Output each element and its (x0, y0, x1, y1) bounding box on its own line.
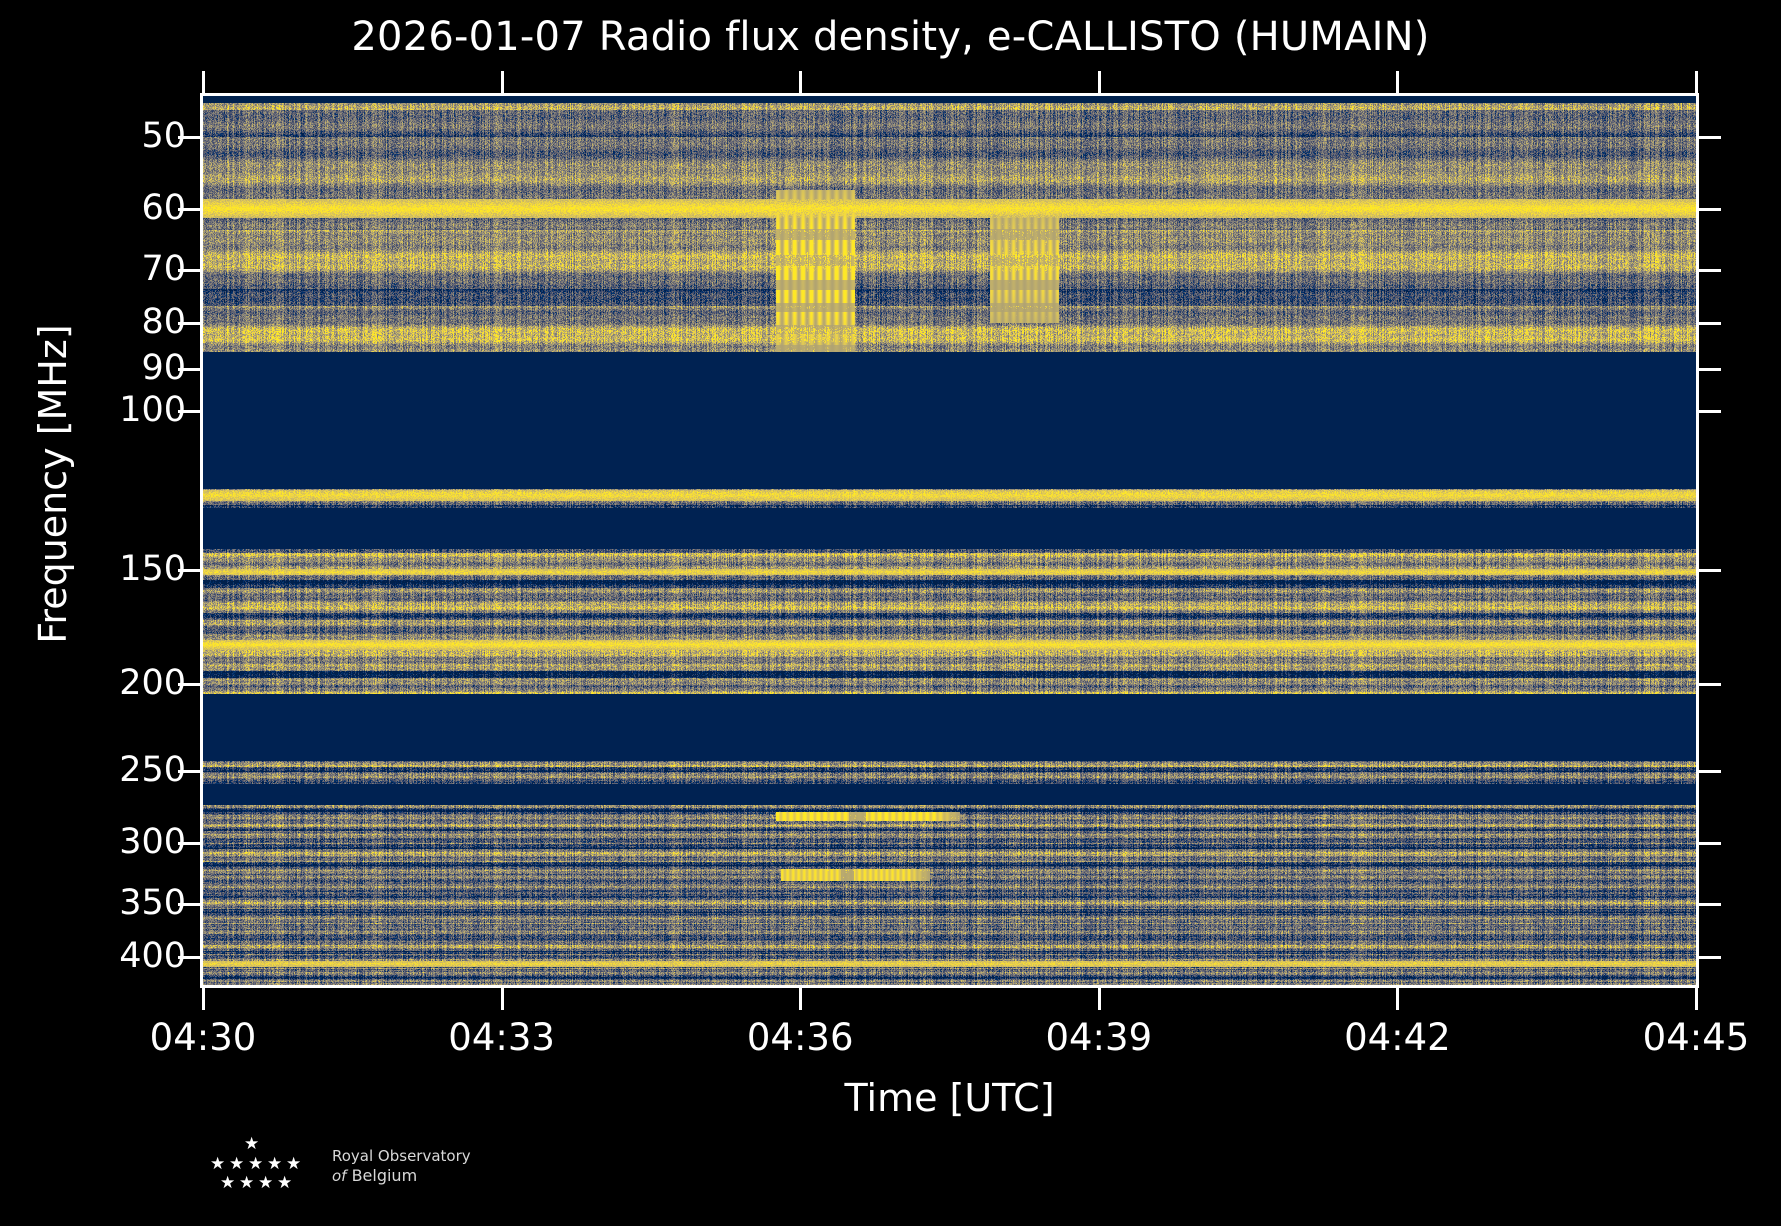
spectrogram-plot-area (203, 96, 1696, 985)
y-tick-label-70: 70 (141, 252, 186, 287)
star-icon-3: ★ (248, 1156, 263, 1173)
x-tick-label-04:39: 04:39 (1045, 1018, 1152, 1058)
logo-line-2: of Belgium (332, 1166, 552, 1186)
y-tick-mark-right-250 (1699, 770, 1721, 773)
y-tick-mark-right-80 (1699, 322, 1721, 325)
star-icon-1: ★ (210, 1156, 225, 1173)
y-tick-label-50: 50 (141, 119, 186, 154)
spectrogram-figure: 2026-01-07 Radio flux density, e-CALLIST… (0, 0, 1781, 1226)
y-tick-label-100: 100 (119, 393, 186, 428)
x-axis-label: Time [UTC] (203, 1076, 1696, 1120)
x-tick-label-04:30: 04:30 (150, 1018, 257, 1058)
x-tick-mark-top-5 (1695, 71, 1698, 93)
y-tick-label-250: 250 (119, 753, 186, 788)
y-tick-mark-right-200 (1699, 683, 1721, 686)
x-tick-mark-4 (1396, 988, 1399, 1010)
star-icon-2: ★ (229, 1156, 244, 1173)
axis-spine-bottom (200, 985, 1699, 988)
x-tick-mark-top-0 (202, 71, 205, 93)
spectrogram-canvas (203, 96, 1696, 985)
x-tick-label-04:36: 04:36 (747, 1018, 854, 1058)
x-tick-mark-top-1 (501, 71, 504, 93)
y-tick-label-200: 200 (119, 666, 186, 701)
x-tick-mark-3 (1098, 988, 1101, 1010)
axis-spine-right (1696, 96, 1699, 986)
y-tick-label-90: 90 (141, 351, 186, 386)
x-tick-mark-1 (501, 988, 504, 1010)
logo-of-word: of (332, 1167, 346, 1185)
y-tick-mark-right-60 (1699, 208, 1721, 211)
y-tick-mark-right-350 (1699, 903, 1721, 906)
page-title: 2026-01-07 Radio flux density, e-CALLIST… (0, 14, 1781, 60)
y-axis-label: Frequency [MHz] (31, 134, 75, 834)
x-tick-mark-top-2 (799, 71, 802, 93)
x-tick-mark-2 (799, 988, 802, 1010)
x-tick-label-04:33: 04:33 (448, 1018, 555, 1058)
star-icon-6: ★ (220, 1175, 235, 1192)
x-tick-mark-5 (1695, 988, 1698, 1010)
y-tick-label-300: 300 (119, 825, 186, 860)
stars-icon: ★★★★★★★★★★ (196, 1136, 326, 1198)
logo-text: Royal Observatory of Belgium (332, 1146, 552, 1186)
x-tick-mark-0 (202, 988, 205, 1010)
star-icon-8: ★ (258, 1175, 273, 1192)
y-tick-label-150: 150 (119, 552, 186, 587)
y-tick-mark-right-150 (1699, 569, 1721, 572)
y-tick-mark-right-300 (1699, 842, 1721, 845)
y-tick-mark-right-100 (1699, 410, 1721, 413)
logo-belgium-word: Belgium (352, 1166, 418, 1185)
star-icon-9: ★ (277, 1175, 292, 1192)
x-tick-label-04:45: 04:45 (1643, 1018, 1750, 1058)
y-tick-label-350: 350 (119, 886, 186, 921)
star-icon-5: ★ (286, 1156, 301, 1173)
star-icon-0: ★ (244, 1136, 259, 1153)
logo-line-1: Royal Observatory (332, 1146, 552, 1166)
y-tick-label-80: 80 (141, 305, 186, 340)
star-icon-4: ★ (267, 1156, 282, 1173)
y-tick-mark-right-50 (1699, 136, 1721, 139)
y-tick-mark-right-70 (1699, 269, 1721, 272)
y-tick-mark-right-90 (1699, 368, 1721, 371)
royal-observatory-logo: ★★★★★★★★★★ Royal Observatory of Belgium (196, 1136, 426, 1202)
y-tick-label-400: 400 (119, 939, 186, 974)
star-icon-7: ★ (239, 1175, 254, 1192)
x-tick-label-04:42: 04:42 (1344, 1018, 1451, 1058)
x-tick-mark-top-4 (1396, 71, 1399, 93)
y-tick-mark-right-400 (1699, 956, 1721, 959)
x-tick-mark-top-3 (1098, 71, 1101, 93)
y-tick-label-60: 60 (141, 191, 186, 226)
